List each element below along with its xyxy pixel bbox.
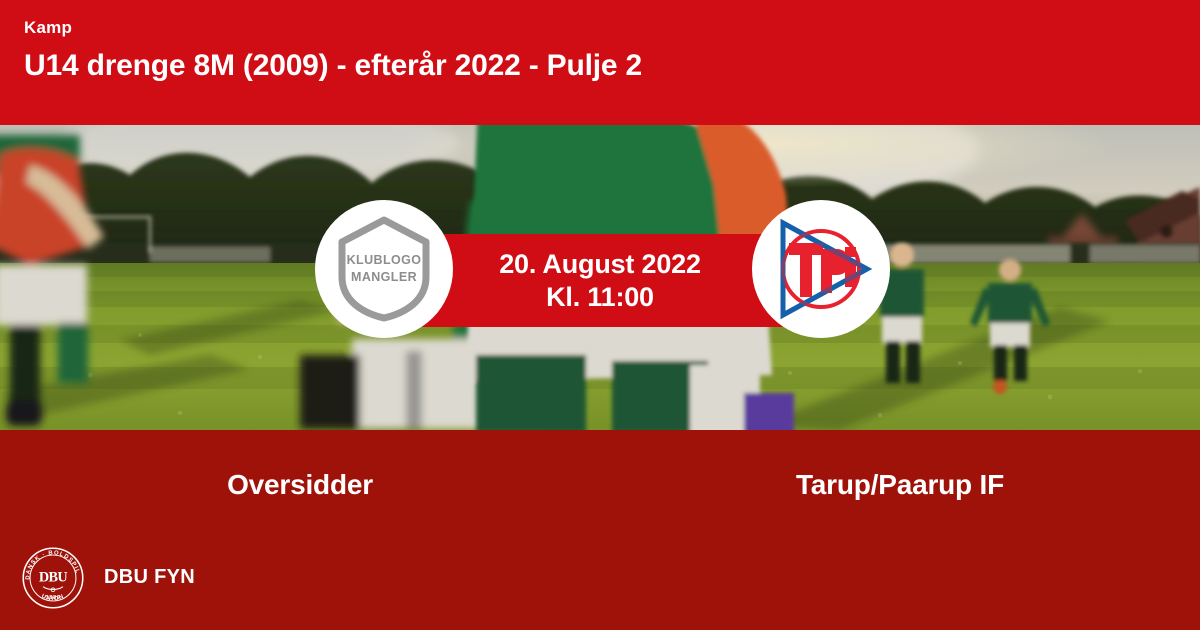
dbu-seal-icon: DANSK · BOLDSPIL · UNION DBU 1889	[22, 547, 84, 609]
card-footer: DANSK · BOLDSPIL · UNION DBU 1889 DBU FY…	[0, 525, 1200, 630]
home-logo-line1: KLUBLOGO	[347, 252, 422, 269]
header-kicker: Kamp	[24, 18, 1176, 38]
page-title: U14 drenge 8M (2009) - efterår 2022 - Pu…	[24, 47, 1176, 85]
team-names-row: Oversidder Tarup/Paarup IF	[0, 430, 1200, 525]
match-time: Kl. 11:00	[546, 281, 654, 314]
shield-placeholder-icon: KLUBLOGO MANGLER	[334, 215, 434, 323]
home-team-name: Oversidder	[0, 430, 600, 525]
away-team-logo[interactable]	[752, 200, 890, 338]
footer-label: DBU FYN	[104, 566, 195, 589]
home-team-logo[interactable]: KLUBLOGO MANGLER	[315, 200, 453, 338]
home-logo-line2: MANGLER	[351, 269, 417, 286]
svg-text:1889: 1889	[46, 595, 61, 601]
match-date: 20. August 2022	[499, 248, 701, 281]
match-card: Kamp U14 drenge 8M (2009) - efterår 2022…	[0, 0, 1200, 630]
away-team-name: Tarup/Paarup IF	[600, 430, 1200, 525]
tpi-club-logo-icon	[769, 217, 873, 321]
card-header: Kamp U14 drenge 8M (2009) - efterår 2022…	[0, 0, 1200, 125]
svg-text:DBU: DBU	[39, 569, 68, 585]
